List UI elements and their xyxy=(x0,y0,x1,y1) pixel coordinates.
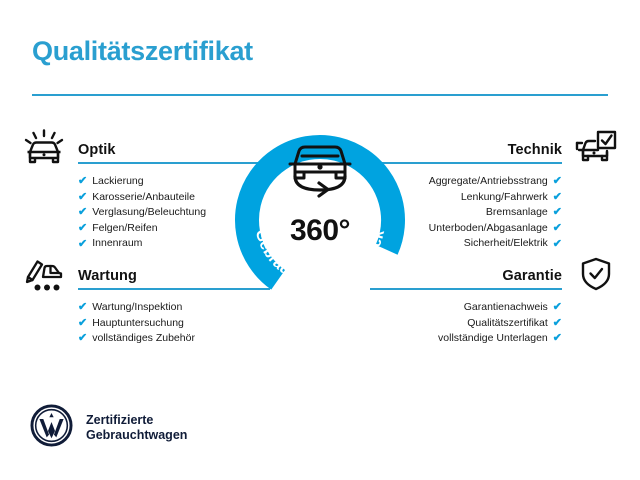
check-icon: ✔ xyxy=(553,239,562,250)
list-item-label: Lenkung/Fahrwerk xyxy=(461,190,548,206)
certificate-page: Qualitätszertifikat xyxy=(0,0,640,480)
check-icon: ✔ xyxy=(553,318,562,329)
section-title: Optik xyxy=(78,142,116,158)
list-item-label: Sicherheit/Elektrik xyxy=(464,236,548,252)
list-item-label: Innenraum xyxy=(92,236,142,252)
list-item-label: Aggregate/Antriebsstrang xyxy=(429,174,548,190)
car-checkbox-icon xyxy=(572,128,620,168)
car-shine-icon xyxy=(20,128,68,168)
list-item: Aggregate/Antriebsstrang✔ xyxy=(370,174,620,190)
check-icon: ✔ xyxy=(78,176,87,187)
list-item: Qualitätszertifikat✔ xyxy=(370,316,620,332)
section-header: Technik xyxy=(370,130,620,166)
section-title: Wartung xyxy=(78,268,137,284)
volkswagen-logo-icon xyxy=(30,404,73,452)
check-icon: ✔ xyxy=(78,239,87,250)
checklist: Garantienachweis✔ Qualitätszertifikat✔ v… xyxy=(370,300,620,347)
check-icon: ✔ xyxy=(78,192,87,203)
list-item: vollständige Unterlagen✔ xyxy=(370,331,620,347)
list-item: Unterboden/Abgasanlage✔ xyxy=(370,221,620,237)
check-icon: ✔ xyxy=(553,176,562,187)
check-icon: ✔ xyxy=(553,207,562,218)
list-item: Sicherheit/Elektrik✔ xyxy=(370,236,620,252)
list-item-label: Felgen/Reifen xyxy=(92,221,157,237)
badge-center-label: 360° xyxy=(233,214,407,248)
section-technik: Technik Aggregate/Antriebsstrang✔ Lenkun… xyxy=(370,130,620,252)
check-icon: ✔ xyxy=(78,223,87,234)
list-item-label: Garantienachweis xyxy=(464,300,548,316)
list-item: Garantienachweis✔ xyxy=(370,300,620,316)
list-item-label: Qualitätszertifikat xyxy=(467,316,548,332)
pen-car-service-icon xyxy=(20,254,68,294)
list-item: Bremsanlage✔ xyxy=(370,205,620,221)
checklist: Aggregate/Antriebsstrang✔ Lenkung/Fahrwe… xyxy=(370,174,620,252)
shield-check-icon xyxy=(572,254,620,294)
list-item-label: Verglasung/Beleuchtung xyxy=(92,205,206,221)
check-icon: ✔ xyxy=(78,302,87,313)
footer-line-2: Gebrauchtwagen xyxy=(86,428,187,442)
check-icon: ✔ xyxy=(553,192,562,203)
list-item: ✔vollständiges Zubehör xyxy=(20,331,270,347)
checklist: ✔Wartung/Inspektion ✔Hauptuntersuchung ✔… xyxy=(20,300,270,347)
list-item-label: Unterboden/Abgasanlage xyxy=(429,221,548,237)
footer-brand-text: Zertifizierte Gebrauchtwagen xyxy=(86,413,187,443)
check-icon: ✔ xyxy=(553,223,562,234)
list-item-label: Wartung/Inspektion xyxy=(92,300,182,316)
section-header: Garantie xyxy=(370,256,620,292)
list-item: Lenkung/Fahrwerk✔ xyxy=(370,190,620,206)
section-title: Technik xyxy=(508,142,562,158)
check-icon: ✔ xyxy=(78,318,87,329)
check-icon: ✔ xyxy=(553,302,562,313)
list-item: ✔Hauptuntersuchung xyxy=(20,316,270,332)
list-item-label: Hauptuntersuchung xyxy=(92,316,184,332)
list-item-label: Bremsanlage xyxy=(486,205,548,221)
footer-brand: Zertifizierte Gebrauchtwagen xyxy=(30,404,187,452)
list-item: ✔Wartung/Inspektion xyxy=(20,300,270,316)
page-title: Qualitätszertifikat xyxy=(32,36,253,67)
gebrauchtwagen-check-badge: Gebrauchtwagen-Check 360° xyxy=(233,126,407,300)
check-icon: ✔ xyxy=(553,333,562,344)
title-divider xyxy=(32,94,608,96)
footer-line-1: Zertifizierte xyxy=(86,413,153,427)
check-icon: ✔ xyxy=(78,333,87,344)
list-item-label: Karosserie/Anbauteile xyxy=(92,190,195,206)
list-item-label: vollständiges Zubehör xyxy=(92,331,195,347)
check-icon: ✔ xyxy=(78,207,87,218)
section-garantie: Garantie Garantienachweis✔ Qualitätszert… xyxy=(370,256,620,347)
list-item-label: vollständige Unterlagen xyxy=(438,331,548,347)
section-title: Garantie xyxy=(502,268,562,284)
list-item-label: Lackierung xyxy=(92,174,143,190)
